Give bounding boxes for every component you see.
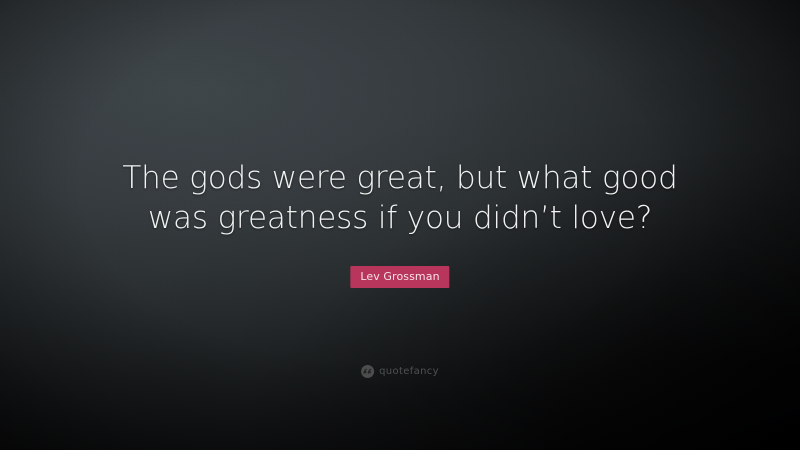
author-badge: Lev Grossman [350,266,449,288]
watermark: quotefancy [361,365,439,378]
quote-text: The gods were great, but what good was g… [90,158,710,238]
quote-content: The gods were great, but what good was g… [0,0,800,450]
quote-bubble-icon [361,365,374,378]
quote-image-canvas: The gods were great, but what good was g… [0,0,800,450]
watermark-brand-label: quotefancy [379,367,439,377]
